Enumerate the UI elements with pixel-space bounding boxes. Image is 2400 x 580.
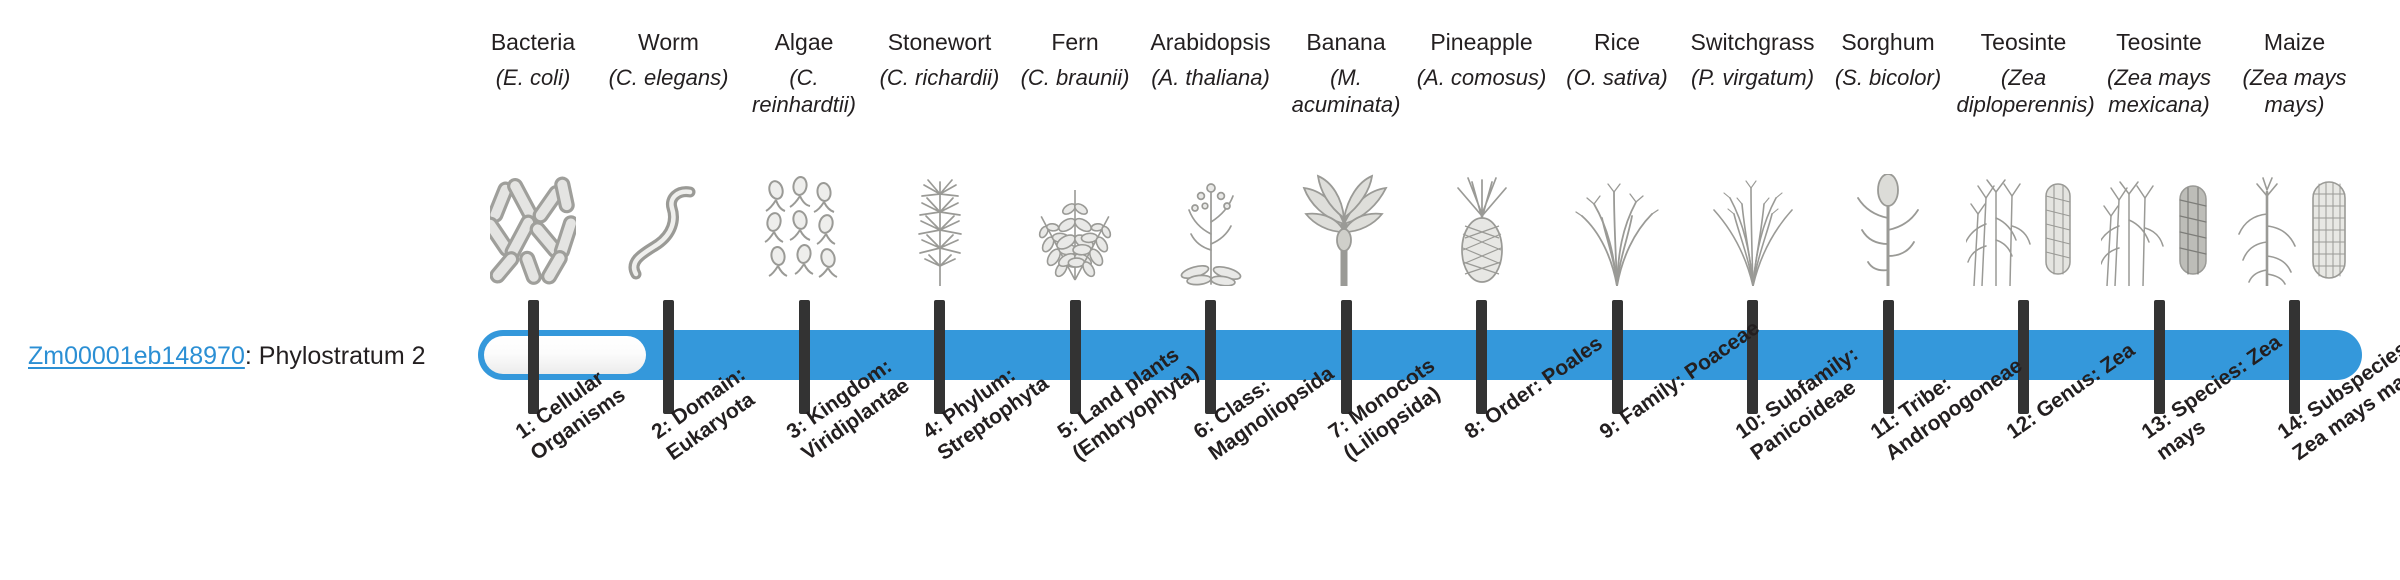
scientific-name-13: (Zea mays mexicana): [2092, 64, 2226, 118]
scientific-name-14: (Zea mays mays): [2228, 64, 2362, 118]
common-name-11: Sorghum: [1821, 28, 1955, 56]
common-name-9: Rice: [1550, 28, 1684, 56]
phylostratum-timeline: Zm00001eb148970: Phylostratum 2 Bacteria…: [0, 0, 2400, 580]
worm-icon: [602, 168, 736, 286]
switchgrass-icon: [1686, 168, 1820, 286]
scientific-name-9: (O. sativa): [1550, 64, 1684, 118]
level-column-14: Maize(Zea mays mays): [2228, 28, 2362, 118]
scientific-name-1: (E. coli): [466, 64, 600, 118]
level-column-7: Banana(M. acuminata): [1279, 28, 1413, 118]
common-name-7: Banana: [1279, 28, 1413, 56]
common-name-14: Maize: [2228, 28, 2362, 56]
gene-id-link[interactable]: Zm00001eb148970: [28, 342, 245, 370]
maize-icon: [2228, 168, 2362, 286]
bacteria-icon: [466, 168, 600, 286]
scientific-name-5: (C. braunii): [1008, 64, 1142, 118]
scientific-name-7: (M. acuminata): [1279, 64, 1413, 118]
level-column-8: Pineapple(A. comosus): [1415, 28, 1549, 118]
scientific-name-11: (S. bicolor): [1821, 64, 1955, 118]
common-name-3: Algae: [737, 28, 871, 56]
scientific-name-12: (Zea diploperennis): [1957, 64, 2091, 118]
common-name-4: Stonewort: [873, 28, 1007, 56]
scientific-name-2: (C. elegans): [602, 64, 736, 118]
level-column-11: Sorghum(S. bicolor): [1821, 28, 1955, 118]
level-column-12: Teosinte(Zea diploperennis): [1957, 28, 2091, 118]
arabidopsis-icon: [1144, 168, 1278, 286]
sorghum-icon: [1821, 168, 1955, 286]
level-column-1: Bacteria(E. coli): [466, 28, 600, 118]
level-column-10: Switchgrass(P. virgatum): [1686, 28, 1820, 118]
common-name-8: Pineapple: [1415, 28, 1549, 56]
common-name-13: Teosinte: [2092, 28, 2226, 56]
gene-label: Zm00001eb148970: Phylostratum 2: [28, 340, 426, 372]
algae-icon: [737, 168, 871, 286]
scientific-name-8: (A. comosus): [1415, 64, 1549, 118]
scientific-name-10: (P. virgatum): [1686, 64, 1820, 118]
common-name-6: Arabidopsis: [1144, 28, 1278, 56]
pineapple-icon: [1415, 168, 1549, 286]
common-name-1: Bacteria: [466, 28, 600, 56]
common-name-5: Fern: [1008, 28, 1142, 56]
rice-icon: [1550, 168, 1684, 286]
fern-icon: [1008, 168, 1142, 286]
scientific-name-4: (C. richardii): [873, 64, 1007, 118]
teosinte-mexicana-icon: [2092, 168, 2226, 286]
level-column-9: Rice(O. sativa): [1550, 28, 1684, 118]
banana-icon: [1279, 168, 1413, 286]
level-column-5: Fern(C. braunii): [1008, 28, 1142, 118]
common-name-12: Teosinte: [1957, 28, 2091, 56]
level-column-4: Stonewort(C. richardii): [873, 28, 1007, 118]
scientific-name-3: (C. reinhardtii): [737, 64, 871, 118]
teosinte-diploperennis-icon: [1957, 168, 2091, 286]
common-name-10: Switchgrass: [1686, 28, 1820, 56]
gene-label-separator: :: [245, 342, 259, 370]
scientific-name-6: (A. thaliana): [1144, 64, 1278, 118]
phylostratum-value-text: Phylostratum 2: [259, 342, 426, 370]
level-column-13: Teosinte(Zea mays mexicana): [2092, 28, 2226, 118]
common-name-2: Worm: [602, 28, 736, 56]
level-column-2: Worm(C. elegans): [602, 28, 736, 118]
level-column-3: Algae(C. reinhardtii): [737, 28, 871, 118]
level-column-6: Arabidopsis(A. thaliana): [1144, 28, 1278, 118]
tick-mark-1[interactable]: [528, 300, 539, 414]
stonewort-icon: [873, 168, 1007, 286]
